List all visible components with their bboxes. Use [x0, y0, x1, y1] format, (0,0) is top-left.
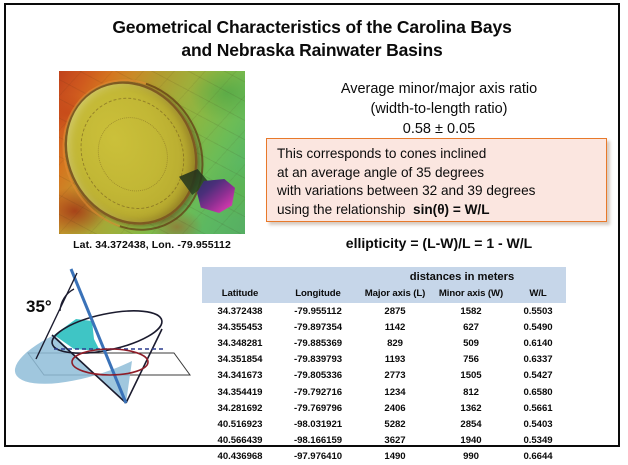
cell-major-axis: 5282: [358, 416, 432, 432]
group-header-spacer-lon: [278, 267, 358, 284]
cell-latitude: 40.436968: [202, 449, 278, 465]
cell-latitude: 34.372438: [202, 303, 278, 319]
average-ratio-block: Average minor/major axis ratio (width-to…: [264, 79, 614, 139]
table-row: 34.341673-79.805336277315050.5427: [202, 368, 566, 384]
ratio-value: 0.58 ± 0.05: [264, 119, 614, 139]
sine-relationship-formula: sin(θ) = W/L: [413, 202, 489, 217]
cell-wl-ratio: 0.5403: [510, 416, 566, 432]
group-header-distances: distances in meters: [358, 267, 566, 284]
cell-longitude: -79.955112: [278, 303, 358, 319]
ratio-line-2: (width-to-length ratio): [264, 99, 614, 119]
cell-major-axis: 2773: [358, 368, 432, 384]
slide-frame: Geometrical Characteristics of the Carol…: [4, 3, 620, 447]
cell-wl-ratio: 0.5427: [510, 368, 566, 384]
callout-line-3: with variations between 32 and 39 degree…: [277, 182, 606, 201]
cell-major-axis: 2875: [358, 303, 432, 319]
cell-latitude: 40.516923: [202, 416, 278, 432]
callout-line-2: at an average angle of 35 degrees: [277, 164, 606, 183]
cell-minor-axis: 1582: [432, 303, 510, 319]
angle-arc: [60, 289, 74, 311]
table-row: 34.372438-79.955112287515820.5503: [202, 303, 566, 319]
lidar-bay-image: [59, 71, 245, 234]
measurements-table-wrapper: distances in meters Latitude Longitude M…: [202, 267, 566, 465]
cell-wl-ratio: 0.5503: [510, 303, 566, 319]
ellipticity-formula: ellipticity = (L-W)/L = 1 - W/L: [264, 235, 614, 251]
ratio-line-1: Average minor/major axis ratio: [264, 79, 614, 99]
cell-major-axis: 2406: [358, 400, 432, 416]
measurements-table: distances in meters Latitude Longitude M…: [202, 267, 566, 465]
cone-inclination-callout: This corresponds to cones inclined at an…: [266, 138, 607, 222]
cell-major-axis: 1490: [358, 449, 432, 465]
cell-longitude: -97.976410: [278, 449, 358, 465]
cell-minor-axis: 1362: [432, 400, 510, 416]
cell-latitude: 34.354419: [202, 384, 278, 400]
title-line-1: Geometrical Characteristics of the Carol…: [6, 16, 618, 39]
cell-longitude: -79.885369: [278, 335, 358, 351]
cell-minor-axis: 2854: [432, 416, 510, 432]
cell-wl-ratio: 0.6644: [510, 449, 566, 465]
cell-longitude: -98.166159: [278, 433, 358, 449]
table-row: 40.436968-97.97641014909900.6644: [202, 449, 566, 465]
measurements-table-body: 34.372438-79.955112287515820.550334.3554…: [202, 303, 566, 465]
table-column-header-row: Latitude Longitude Major axis (L) Minor …: [202, 284, 566, 303]
cell-minor-axis: 756: [432, 352, 510, 368]
column-header-wl-ratio: W/L: [510, 284, 566, 303]
cell-minor-axis: 509: [432, 335, 510, 351]
cell-major-axis: 1142: [358, 319, 432, 335]
photo-caption: Lat. 34.372438, Lon. -79.955112: [36, 239, 268, 251]
cell-major-axis: 1193: [358, 352, 432, 368]
title-line-2: and Nebraska Rainwater Basins: [6, 39, 618, 62]
table-row: 34.348281-79.8853698295090.6140: [202, 335, 566, 351]
table-group-header-row: distances in meters: [202, 267, 566, 284]
cell-wl-ratio: 0.5661: [510, 400, 566, 416]
table-row: 34.354419-79.79271612348120.6580: [202, 384, 566, 400]
cell-wl-ratio: 0.5349: [510, 433, 566, 449]
cell-longitude: -79.839793: [278, 352, 358, 368]
callout-line-1: This corresponds to cones inclined: [277, 145, 606, 164]
table-row: 34.355453-79.89735411426270.5490: [202, 319, 566, 335]
cell-latitude: 34.355453: [202, 319, 278, 335]
cell-wl-ratio: 0.6337: [510, 352, 566, 368]
cell-latitude: 40.566439: [202, 433, 278, 449]
table-row: 34.351854-79.83979311937560.6337: [202, 352, 566, 368]
cell-longitude: -79.769796: [278, 400, 358, 416]
callout-line-4: using the relationship sin(θ) = W/L: [277, 201, 606, 220]
cell-longitude: -79.805336: [278, 368, 358, 384]
table-row: 40.566439-98.166159362719400.5349: [202, 433, 566, 449]
column-header-major-axis: Major axis (L): [358, 284, 432, 303]
group-header-spacer-lat: [202, 267, 278, 284]
page-title: Geometrical Characteristics of the Carol…: [6, 16, 618, 62]
column-header-longitude: Longitude: [278, 284, 358, 303]
column-header-minor-axis: Minor axis (W): [432, 284, 510, 303]
callout-line-4-prefix: using the relationship: [277, 202, 405, 217]
cell-major-axis: 829: [358, 335, 432, 351]
cell-longitude: -79.897354: [278, 319, 358, 335]
cell-minor-axis: 1505: [432, 368, 510, 384]
cell-wl-ratio: 0.6580: [510, 384, 566, 400]
cell-latitude: 34.348281: [202, 335, 278, 351]
cell-minor-axis: 990: [432, 449, 510, 465]
cone-plane-intersection-diagram: [14, 263, 204, 415]
cell-minor-axis: 812: [432, 384, 510, 400]
cell-longitude: -98.031921: [278, 416, 358, 432]
cell-latitude: 34.281692: [202, 400, 278, 416]
cell-latitude: 34.351854: [202, 352, 278, 368]
cell-latitude: 34.341673: [202, 368, 278, 384]
table-row: 40.516923-98.031921528228540.5403: [202, 416, 566, 432]
cell-wl-ratio: 0.5490: [510, 319, 566, 335]
cell-wl-ratio: 0.6140: [510, 335, 566, 351]
cell-longitude: -79.792716: [278, 384, 358, 400]
cell-major-axis: 3627: [358, 433, 432, 449]
cell-major-axis: 1234: [358, 384, 432, 400]
table-row: 34.281692-79.769796240613620.5661: [202, 400, 566, 416]
cell-minor-axis: 627: [432, 319, 510, 335]
column-header-latitude: Latitude: [202, 284, 278, 303]
cone-angle-label: 35°: [26, 297, 52, 317]
cell-minor-axis: 1940: [432, 433, 510, 449]
